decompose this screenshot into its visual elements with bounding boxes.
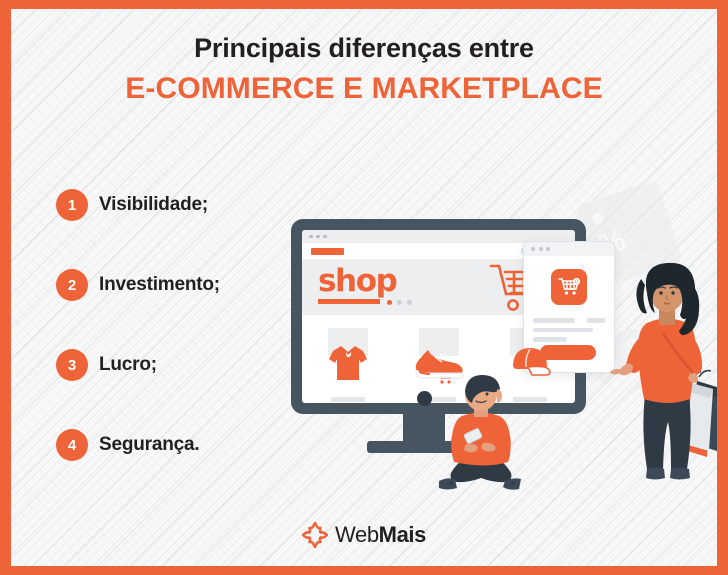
tshirt-icon: [327, 343, 369, 383]
illustration: % $: [281, 179, 717, 519]
man-sitting-with-phone: [421, 369, 541, 499]
brand-logo-text-light: Web: [335, 522, 379, 547]
page-title-line1: Principais diferenças entre: [11, 33, 717, 64]
webmais-diamond-icon: [302, 522, 328, 548]
heading-block: Principais diferenças entre E-COMMERCE E…: [11, 33, 717, 107]
site-hero-underline: [318, 299, 380, 304]
list-item: 3 Lucro;: [56, 349, 296, 381]
carousel-dots[interactable]: [387, 300, 412, 305]
card-text-row: [533, 337, 605, 342]
poster-canvas: Principais diferenças entre E-COMMERCE E…: [11, 9, 717, 566]
carousel-dot-icon[interactable]: [387, 300, 392, 305]
site-logo: [311, 248, 344, 255]
list-item-label: Visibilidade;: [99, 194, 208, 216]
list-item: 1 Visibilidade;: [56, 189, 296, 221]
card-text-line: [587, 318, 605, 323]
shopping-cart-app-icon[interactable]: 0: [551, 269, 587, 305]
carousel-dot-icon[interactable]: [397, 300, 402, 305]
list-item-number-badge: 1: [56, 189, 88, 221]
browser-dot-icon: [531, 247, 535, 251]
product-label-bar: [331, 397, 365, 402]
list-item-number-badge: 3: [56, 349, 88, 381]
card-text-row: [533, 318, 605, 323]
page-title-line2: E-COMMERCE E MARKETPLACE: [11, 71, 717, 107]
shopping-cart-icon: 0: [558, 277, 580, 297]
card-text-row: [533, 328, 605, 333]
sneaker-icon: [413, 346, 465, 380]
poster-frame: Principais diferenças entre E-COMMERCE E…: [0, 0, 728, 575]
woman-pointing-with-shopping-bags: [607, 259, 717, 499]
cart-badge-count: 0: [575, 280, 578, 286]
list-item-label: Investimento;: [99, 274, 220, 296]
list-item-label: Segurança.: [99, 434, 199, 456]
list-item-number-badge: 4: [56, 429, 88, 461]
brand-logo-text: WebMais: [335, 522, 426, 548]
browser-dot-icon: [539, 247, 543, 251]
card-text-line: [533, 318, 575, 323]
carousel-dot-icon[interactable]: [407, 300, 412, 305]
list-item-label: Lucro;: [99, 354, 157, 376]
brand-logo[interactable]: WebMais: [11, 522, 717, 548]
product-card[interactable]: [302, 319, 393, 403]
browser-dot-icon: [546, 247, 550, 251]
list-item: 2 Investimento;: [56, 269, 296, 301]
browser-dot-icon: [316, 235, 320, 239]
site-hero-title: shop: [318, 263, 396, 299]
browser-dot-icon: [309, 235, 313, 239]
differences-list: 1 Visibilidade; 2 Investimento; 3 Lucro;…: [56, 189, 296, 509]
brand-logo-text-bold: Mais: [379, 522, 426, 547]
browser-dot-icon: [323, 235, 327, 239]
card-text-line: [533, 328, 593, 333]
card-titlebar: [524, 242, 614, 256]
floor-line: [281, 454, 717, 455]
card-text-lines: [533, 318, 605, 342]
card-text-line: [533, 337, 567, 342]
cap-icon: [508, 346, 552, 380]
list-item-number-badge: 2: [56, 269, 88, 301]
list-item: 4 Segurança.: [56, 429, 296, 461]
